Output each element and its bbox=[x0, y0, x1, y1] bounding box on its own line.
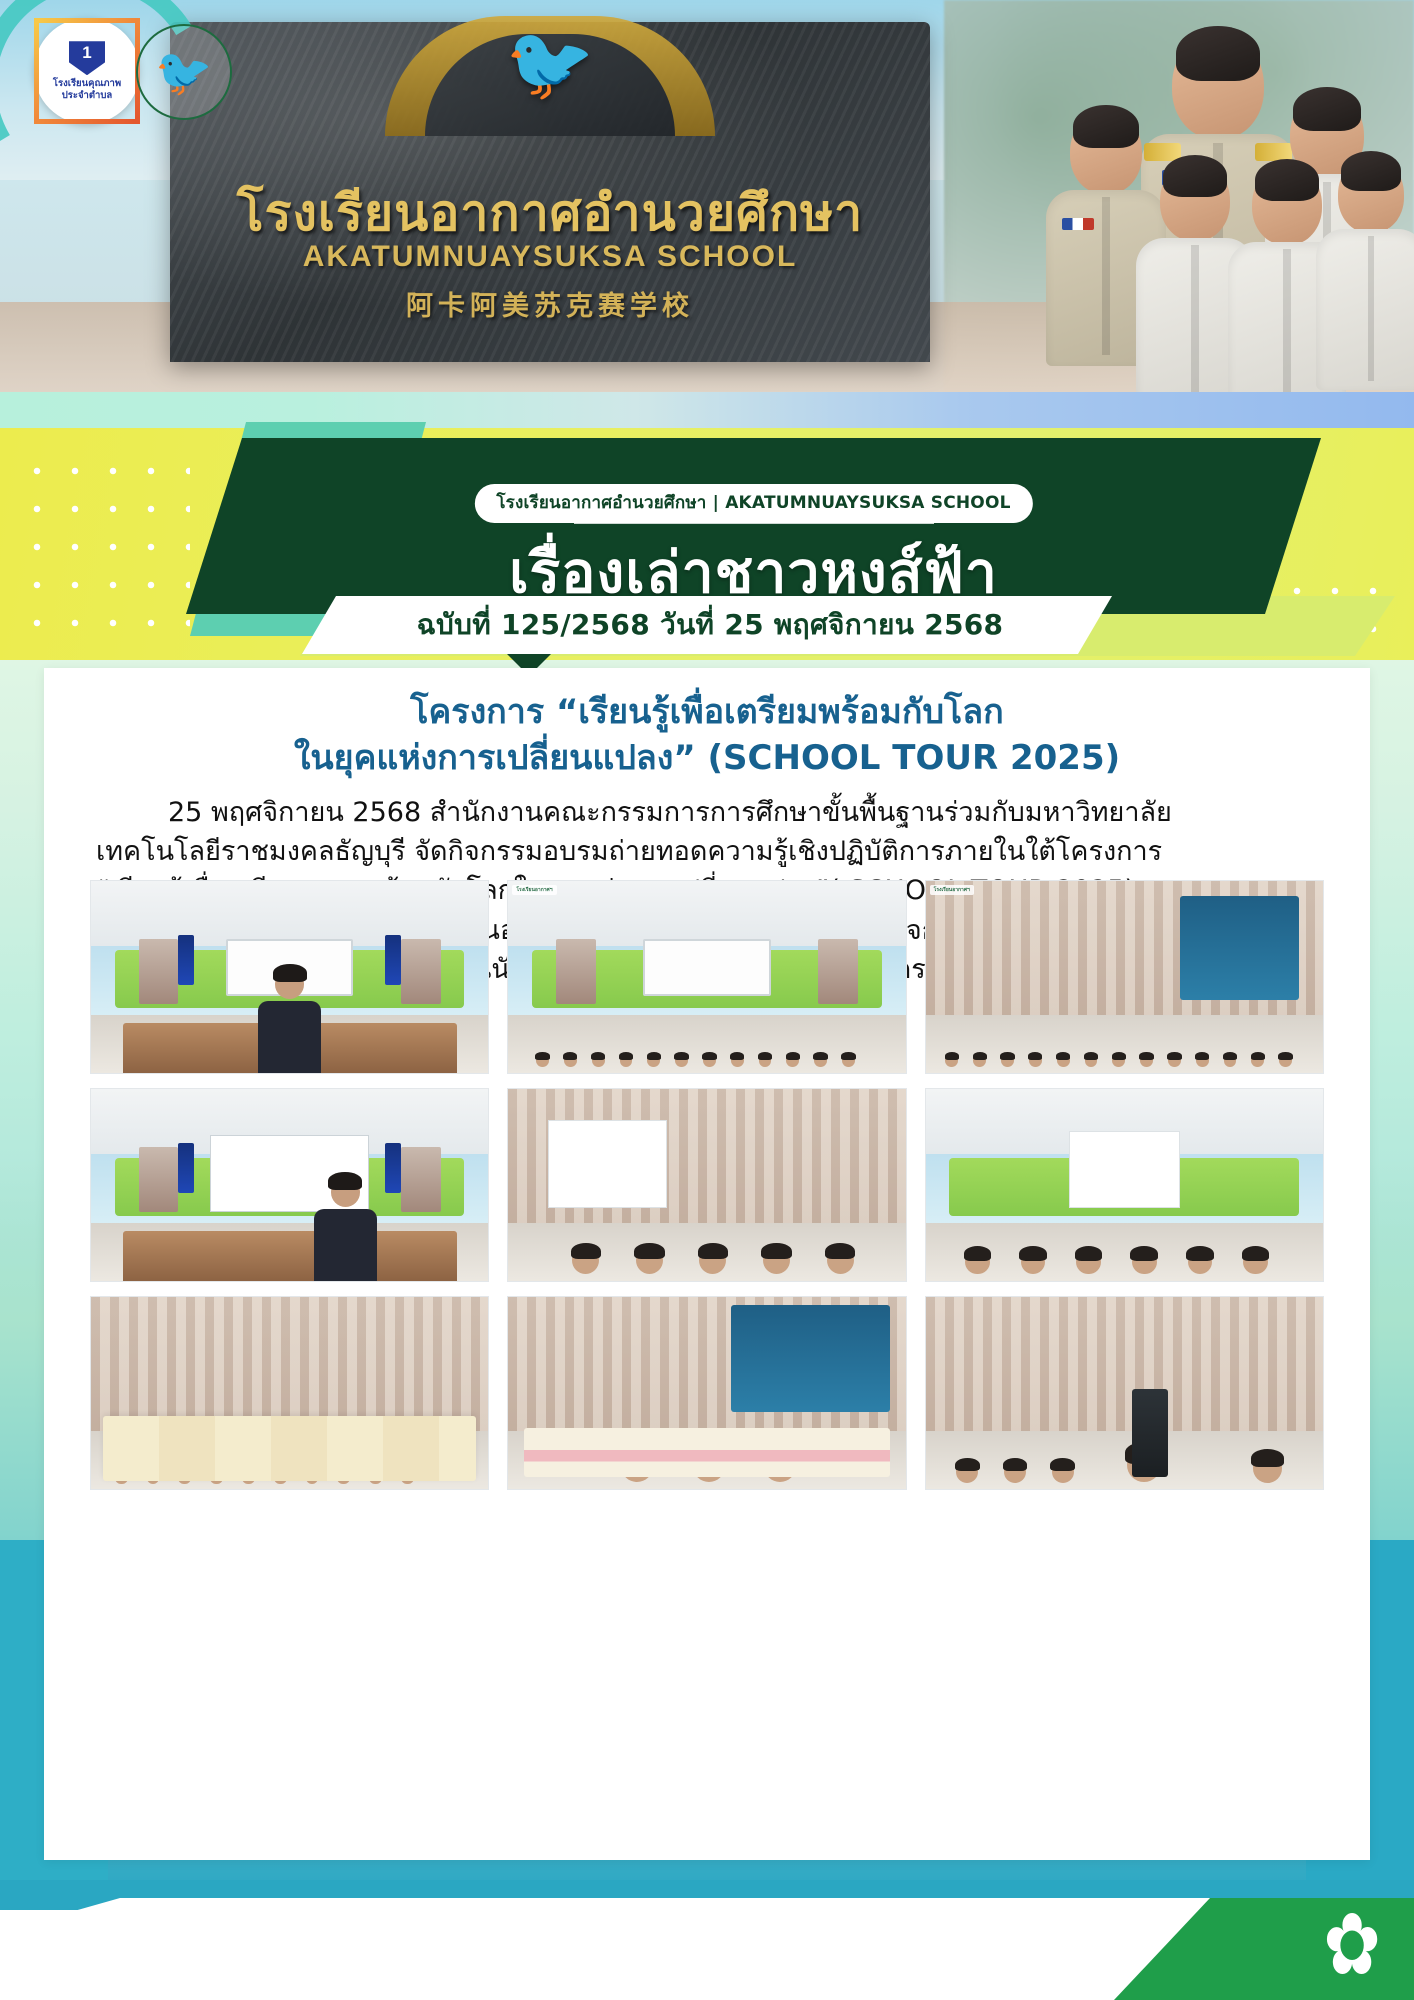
project-title-line-2: ในยุคแห่งการเปลี่ยนแปลง” (SCHOOL TOUR 20… bbox=[98, 736, 1316, 782]
photo-group-staff-wide[interactable]: โรงเรียนอากาศฯ bbox=[925, 880, 1324, 1074]
article-line-2: เทคโนโลยีราชมงคลธัญบุรี จัดกิจกรรมอบรมถ่… bbox=[96, 832, 1318, 871]
photo-students-seated[interactable] bbox=[90, 1296, 489, 1490]
issue-date-strip: ฉบับที่ 125/2568 วันที่ 25 พฤศจิกายน 256… bbox=[302, 596, 1112, 654]
avatar bbox=[1252, 164, 1322, 245]
poster-root: 🐦 โรงเรียนอากาศอำนวยศึกษา AKATUMNUAYSUKS… bbox=[0, 0, 1414, 2000]
school-stone-sign: 🐦 โรงเรียนอากาศอำนวยศึกษา AKATUMNUAYSUKS… bbox=[170, 22, 930, 362]
avatar bbox=[1160, 160, 1230, 241]
corner-logos: โรงเรียนคุณภาพ ประจำตำบล 🐦 bbox=[18, 10, 258, 134]
avatar bbox=[1172, 32, 1264, 139]
official-center bbox=[1172, 32, 1264, 139]
photo-students-table[interactable] bbox=[507, 1296, 906, 1490]
rank-ribbon bbox=[1062, 218, 1093, 230]
quality-school-line1: โรงเรียนคุณภาพ bbox=[53, 78, 121, 89]
official-right-3 bbox=[1338, 156, 1404, 233]
school-name-pill: โรงเรียนอากาศอำนวยศึกษา | AKATUMNUAYSUKS… bbox=[474, 484, 1032, 523]
project-title: โครงการ “เรียนรู้เพื่อเตรียมพร้อมกับโลก … bbox=[98, 690, 1316, 781]
sign-english-name: AKATUMNUAYSUKSA SCHOOL bbox=[170, 240, 930, 274]
issue-date-text: ฉบับที่ 125/2568 วันที่ 25 พฤศจิกายน 256… bbox=[411, 603, 1004, 647]
photo-students-activity-2[interactable] bbox=[925, 1088, 1324, 1282]
avatar bbox=[1070, 110, 1142, 194]
banner-dark-slab: โรงเรียนอากาศอำนวยศึกษา | AKATUMNUAYSUKS… bbox=[186, 438, 1321, 614]
photo-speaker-opening[interactable] bbox=[90, 880, 489, 1074]
hero-photo-band: 🐦 โรงเรียนอากาศอำนวยศึกษา AKATUMNUAYSUKS… bbox=[0, 0, 1414, 392]
photo-group-staff-1[interactable]: โรงเรียนอากาศฯ bbox=[507, 880, 906, 1074]
quality-school-logo: โรงเรียนคุณภาพ ประจำตำบล bbox=[34, 18, 140, 124]
official-right-2 bbox=[1252, 164, 1322, 245]
thai-kranok-flame-icon: ✿ bbox=[1323, 1902, 1381, 1988]
photo-students-activity-1[interactable] bbox=[507, 1088, 906, 1282]
official-left-1 bbox=[1070, 110, 1142, 194]
quality-school-line2: ประจำตำบล bbox=[53, 90, 121, 101]
banner-rule bbox=[574, 522, 934, 524]
officials-group-photo bbox=[960, 14, 1410, 392]
avatar bbox=[1338, 156, 1404, 233]
photo-recording-crew[interactable] bbox=[925, 1296, 1324, 1490]
photo-grid: โรงเรียนอากาศฯ bbox=[90, 880, 1324, 1490]
photo-qr-presentation[interactable] bbox=[90, 1088, 489, 1282]
official-center-2 bbox=[1160, 160, 1230, 241]
project-title-line-1: โครงการ “เรียนรู้เพื่อเตรียมพร้อมกับโลก bbox=[98, 690, 1316, 736]
content-card: โครงการ “เรียนรู้เพื่อเตรียมพร้อมกับโลก … bbox=[44, 668, 1370, 1860]
title-banner: โรงเรียนอากาศอำนวยศึกษา | AKATUMNUAYSUKS… bbox=[0, 400, 1414, 670]
article-line-1: 25 พฤศจิกายน 2568 สำนักงานคณะกรรมการการศ… bbox=[96, 793, 1318, 832]
sign-chinese-name: 阿卡阿美苏克赛学校 bbox=[170, 284, 930, 323]
school-seal-swan-icon: 🐦 bbox=[136, 24, 232, 120]
hamsa-swan-icon: 🐦 bbox=[505, 28, 595, 100]
uniform-body bbox=[1316, 229, 1414, 390]
shield-icon bbox=[69, 41, 105, 75]
